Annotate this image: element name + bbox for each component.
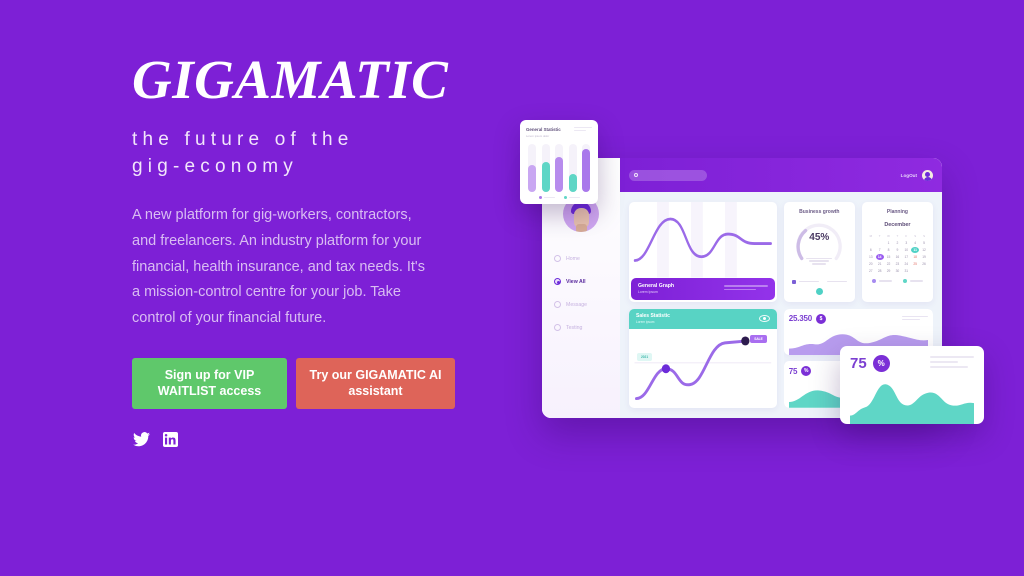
calendar-day[interactable] <box>920 268 928 274</box>
general-statistic-title: General Statistic <box>526 127 561 132</box>
revenue-desc <box>902 316 928 322</box>
calendar-day[interactable]: 21 <box>876 261 884 267</box>
legend-swatch <box>903 279 907 283</box>
calendar-day[interactable]: 1 <box>885 240 893 246</box>
completion-value: 75 <box>850 355 867 372</box>
bar-column <box>528 144 536 193</box>
calendar-day[interactable]: 7 <box>876 247 884 253</box>
calendar-day[interactable]: 25 <box>911 261 919 267</box>
topbar-avatar[interactable] <box>922 170 933 181</box>
general-statistic-bars <box>526 144 592 193</box>
calendar-day[interactable]: 18 <box>911 254 919 260</box>
legend-label <box>910 280 923 282</box>
sales-tag-top: SALE <box>750 335 767 343</box>
ai-assistant-button[interactable]: Try our GIGAMATIC AI assistant <box>296 358 455 409</box>
signup-waitlist-button[interactable]: Sign up for VIP WAITLIST access <box>132 358 287 409</box>
desc-line <box>930 361 958 363</box>
calendar-day[interactable]: 4 <box>911 240 919 246</box>
revenue-value: 25.350 <box>789 314 812 323</box>
sidebar-item-label: Testing <box>566 325 582 331</box>
legend-label <box>569 197 580 198</box>
sidebar-nav: Home View All Message Testing <box>542 250 620 336</box>
eye-icon[interactable] <box>759 315 770 322</box>
desc-line <box>930 356 974 358</box>
hero-description: A new platform for gig-workers, contract… <box>132 203 432 332</box>
calendar-day[interactable]: 12 <box>920 247 928 253</box>
planning-month: December <box>867 222 928 228</box>
gear-icon <box>554 324 561 331</box>
calendar-grid[interactable]: M T W T F S S 1 2 3 4 5 6 <box>867 233 928 274</box>
hero-section: GIGAMATIC the future of the gig-economy … <box>132 52 462 447</box>
planning-legend <box>867 279 928 283</box>
linkedin-icon[interactable] <box>163 432 178 447</box>
planning-card[interactable]: Planning December M T W T F S S 1 2 <box>862 202 933 302</box>
legend-item <box>539 196 555 199</box>
calendar-day[interactable]: 23 <box>893 261 901 267</box>
general-graph-title: General Graph <box>638 283 674 289</box>
general-graph-svg <box>629 202 777 278</box>
general-graph-subtitle: Lorem Ipsum <box>638 290 674 294</box>
legend-label <box>544 197 555 198</box>
general-statistic-desc <box>574 127 592 133</box>
sidebar-item-testing[interactable]: Testing <box>554 319 620 336</box>
business-growth-value: 45% <box>795 232 843 243</box>
legend-item <box>872 279 892 283</box>
calendar-day[interactable] <box>911 268 919 274</box>
dashboard-mockup: Home View All Message Testing <box>516 110 986 430</box>
calendar-day-selected[interactable]: 14 <box>876 254 884 260</box>
sidebar-item-message[interactable]: Message <box>554 296 620 313</box>
calendar-day[interactable]: 31 <box>902 268 910 274</box>
legend-swatch <box>792 280 796 284</box>
sales-statistic-subtitle: Lorem ipsum <box>636 320 670 324</box>
logout-button[interactable]: LogOut <box>901 173 917 178</box>
calendar-day[interactable]: 19 <box>920 254 928 260</box>
sales-statistic-header: Sales Statistic Lorem ipsum <box>629 309 777 329</box>
sidebar-item-label: View All <box>566 279 586 285</box>
completion-plot <box>850 376 974 424</box>
twitter-icon[interactable] <box>133 432 150 447</box>
calendar-day[interactable]: 5 <box>920 240 928 246</box>
general-graph-desc <box>724 285 768 292</box>
general-graph-plot <box>629 202 777 278</box>
general-graph-card[interactable]: General Graph Lorem Ipsum <box>629 202 777 302</box>
calendar-day[interactable]: 29 <box>885 268 893 274</box>
hero-tagline: the future of the gig-economy <box>132 127 432 181</box>
calendar-dow: S <box>920 233 928 239</box>
calendar-dow: S <box>911 233 919 239</box>
bar-fill <box>582 149 590 192</box>
calendar-day[interactable]: 15 <box>885 254 893 260</box>
desc-line <box>574 127 592 128</box>
calendar-day[interactable] <box>867 240 875 246</box>
legend-swatch <box>872 279 876 283</box>
calendar-day[interactable]: 28 <box>876 268 884 274</box>
calendar-day[interactable]: 8 <box>885 247 893 253</box>
search-input[interactable] <box>629 170 707 181</box>
cta-button-row: Sign up for VIP WAITLIST access Try our … <box>132 358 462 409</box>
calendar-day[interactable] <box>876 240 884 246</box>
bar-fill <box>542 162 550 192</box>
sales-statistic-card[interactable]: Sales Statistic Lorem ipsum SALE <box>629 309 777 409</box>
business-growth-title: Business growth <box>799 209 839 215</box>
sales-tag-bottom: 2021 <box>637 353 652 361</box>
sales-statistic-plot: SALE 2021 <box>629 329 777 409</box>
calendar-day[interactable]: 6 <box>867 247 875 253</box>
tagline-line-2: gig-economy <box>132 154 432 181</box>
business-growth-donut: 45% <box>795 221 843 255</box>
legend-item <box>903 279 923 283</box>
calendar-day[interactable]: 20 <box>867 261 875 267</box>
percent-value: 75 <box>789 367 798 376</box>
calendar-day[interactable]: 17 <box>902 254 910 260</box>
sidebar-item-label: Message <box>566 302 587 308</box>
search-icon <box>634 173 638 177</box>
calendar-day[interactable]: 22 <box>885 261 893 267</box>
calendar-day[interactable]: 13 <box>867 254 875 260</box>
percent-badge: % <box>873 355 890 372</box>
sidebar-item-home[interactable]: Home <box>554 250 620 267</box>
desc-line <box>902 319 920 320</box>
percent-badge: % <box>801 366 811 376</box>
desc-line <box>574 130 586 131</box>
calendar-day[interactable]: 26 <box>920 261 928 267</box>
bar-column <box>582 144 590 193</box>
legend-item <box>792 280 819 284</box>
calendar-day[interactable]: 30 <box>893 268 901 274</box>
message-icon <box>554 301 561 308</box>
home-icon <box>554 255 561 262</box>
calendar-dow: F <box>902 233 910 239</box>
calendar-day-selected[interactable]: 11 <box>911 247 919 253</box>
calendar-day[interactable]: 9 <box>893 247 901 253</box>
general-statistic-header: General Statistic Lorem ipsum dolor <box>526 127 592 138</box>
bar-fill <box>555 157 563 192</box>
completion-area-svg <box>850 376 974 424</box>
general-statistic-subtitle: Lorem ipsum dolor <box>526 134 561 138</box>
legend-item <box>827 280 847 284</box>
completion-header: 75 % <box>850 355 974 372</box>
bar-column <box>542 144 550 193</box>
currency-badge: $ <box>816 314 826 324</box>
sales-statistic-title: Sales Statistic <box>636 313 670 319</box>
general-graph-footer: General Graph Lorem Ipsum <box>631 278 775 300</box>
social-links <box>132 432 462 447</box>
legend-label <box>827 281 847 283</box>
growth-indicator-dot <box>816 288 823 295</box>
bar-fill <box>569 174 577 192</box>
general-statistic-legend <box>526 196 592 199</box>
sidebar-item-view-all[interactable]: View All <box>554 273 620 290</box>
business-growth-card[interactable]: Business growth 45% <box>784 202 855 302</box>
calendar-day[interactable]: 24 <box>902 261 910 267</box>
bar-column <box>555 144 563 193</box>
general-statistic-card[interactable]: General Statistic Lorem ipsum dolor <box>520 120 598 204</box>
tagline-line-1: the future of the <box>132 127 432 154</box>
calendar-dow: T <box>893 233 901 239</box>
brand-title: GIGAMATIC <box>132 52 462 107</box>
legend-swatch <box>564 196 567 199</box>
legend-item <box>564 196 580 199</box>
eye-icon <box>554 278 561 285</box>
calendar-day[interactable]: 27 <box>867 268 875 274</box>
topbar-right: LogOut <box>901 170 933 181</box>
completion-desc <box>930 356 974 371</box>
desc-line <box>902 316 928 317</box>
donut-svg <box>795 221 843 269</box>
legend-swatch <box>539 196 542 199</box>
calendar-day[interactable]: 3 <box>902 240 910 246</box>
calendar-day[interactable]: 16 <box>893 254 901 260</box>
calendar-dow: M <box>867 233 875 239</box>
calendar-dow: W <box>885 233 893 239</box>
revenue-header: 25.350 $ <box>789 314 928 324</box>
planning-title: Planning <box>867 209 928 215</box>
calendar-day[interactable]: 10 <box>902 247 910 253</box>
bar-fill <box>528 165 536 192</box>
calendar-dow: T <box>876 233 884 239</box>
calendar-day[interactable]: 2 <box>893 240 901 246</box>
bar-column <box>569 144 577 193</box>
desc-line <box>724 289 756 291</box>
legend-label <box>879 280 892 282</box>
legend-label <box>799 281 819 283</box>
desc-line <box>930 366 968 368</box>
avatar-neck <box>576 224 587 232</box>
desc-line <box>724 285 768 287</box>
business-growth-legend <box>790 280 849 284</box>
sidebar-item-label: Home <box>566 256 580 262</box>
app-topbar: LogOut <box>620 158 942 192</box>
completion-percent-card[interactable]: 75 % <box>840 346 984 424</box>
